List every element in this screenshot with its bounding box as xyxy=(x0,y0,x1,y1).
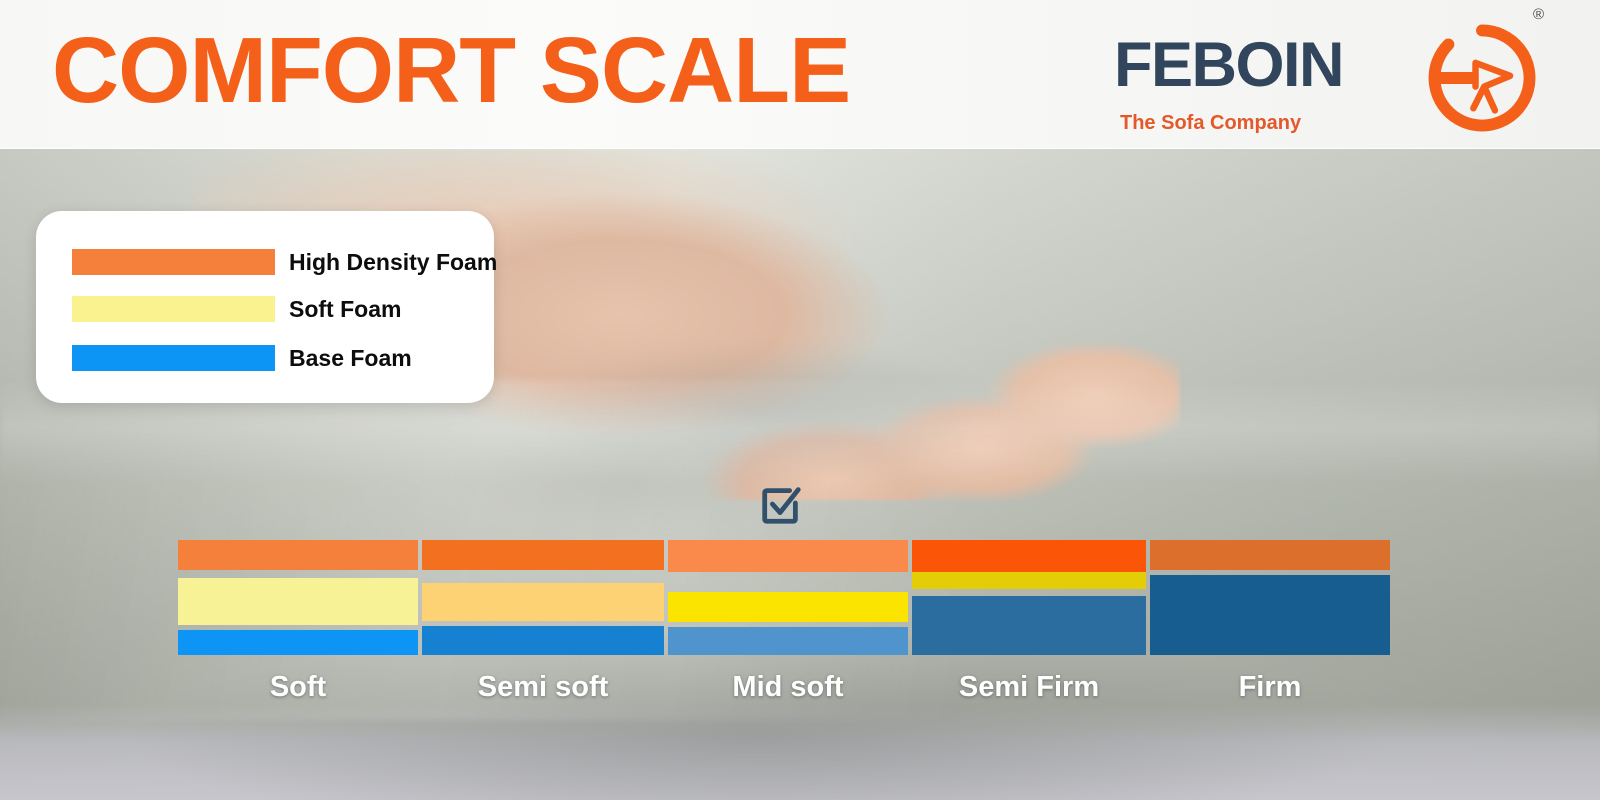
segment-base-foam xyxy=(668,627,908,655)
segment-soft-foam xyxy=(422,583,664,621)
segment-base-foam xyxy=(178,630,418,655)
comfort-scale-infographic: COMFORT SCALE FEBOIN The Sofa Company ® … xyxy=(0,0,1600,800)
segment-high-density-foam xyxy=(422,540,664,570)
logo-wordmark: FEBOIN xyxy=(1114,30,1343,100)
legend-swatch-high-density-foam xyxy=(72,249,275,275)
scale-column-soft[interactable]: Soft xyxy=(178,538,418,658)
page-title: COMFORT SCALE xyxy=(52,18,850,123)
legend-label-high-density-foam: High Density Foam xyxy=(289,249,497,276)
legend-item-soft-foam: Soft Foam xyxy=(72,295,401,323)
scale-label-semi-soft: Semi soft xyxy=(422,671,664,704)
segment-base-foam xyxy=(912,596,1146,655)
circle-chair-icon xyxy=(1428,24,1536,132)
scale-column-semi-soft[interactable]: Semi soft xyxy=(422,538,664,658)
legend-item-high-density-foam: High Density Foam xyxy=(72,248,497,276)
segment-base-foam xyxy=(422,626,664,655)
comfort-scale-chart: SoftSemi softMid softSemi FirmFirm xyxy=(178,538,1390,738)
legend-label-soft-foam: Soft Foam xyxy=(289,296,401,323)
foam-legend-card: High Density Foam Soft Foam Base Foam xyxy=(36,211,494,403)
scale-column-firm[interactable]: Firm xyxy=(1150,538,1390,658)
legend-label-base-foam: Base Foam xyxy=(289,345,412,372)
segment-high-density-foam xyxy=(178,540,418,570)
header-band: COMFORT SCALE FEBOIN The Sofa Company ® xyxy=(0,0,1600,149)
scale-column-semi-firm[interactable]: Semi Firm xyxy=(912,538,1146,658)
segment-soft-foam xyxy=(912,572,1146,589)
logo-tagline: The Sofa Company xyxy=(1120,112,1301,134)
segment-high-density-foam xyxy=(668,540,908,572)
brand-logo: FEBOIN The Sofa Company ® xyxy=(1114,28,1514,133)
registered-trademark-symbol: ® xyxy=(1533,6,1544,23)
segment-soft-foam xyxy=(178,578,418,625)
scale-label-soft: Soft xyxy=(178,671,418,704)
checked-checkbox-icon xyxy=(758,481,804,527)
scale-label-firm: Firm xyxy=(1150,671,1390,704)
legend-item-base-foam: Base Foam xyxy=(72,344,412,372)
segment-high-density-foam xyxy=(1150,540,1390,570)
segment-high-density-foam xyxy=(912,540,1146,572)
scale-label-semi-firm: Semi Firm xyxy=(912,671,1146,704)
segment-soft-foam xyxy=(668,592,908,622)
legend-swatch-soft-foam xyxy=(72,296,275,322)
scale-column-mid-soft[interactable]: Mid soft xyxy=(668,538,908,658)
scale-label-mid-soft: Mid soft xyxy=(668,671,908,704)
segment-base-foam xyxy=(1150,575,1390,655)
legend-swatch-base-foam xyxy=(72,345,275,371)
